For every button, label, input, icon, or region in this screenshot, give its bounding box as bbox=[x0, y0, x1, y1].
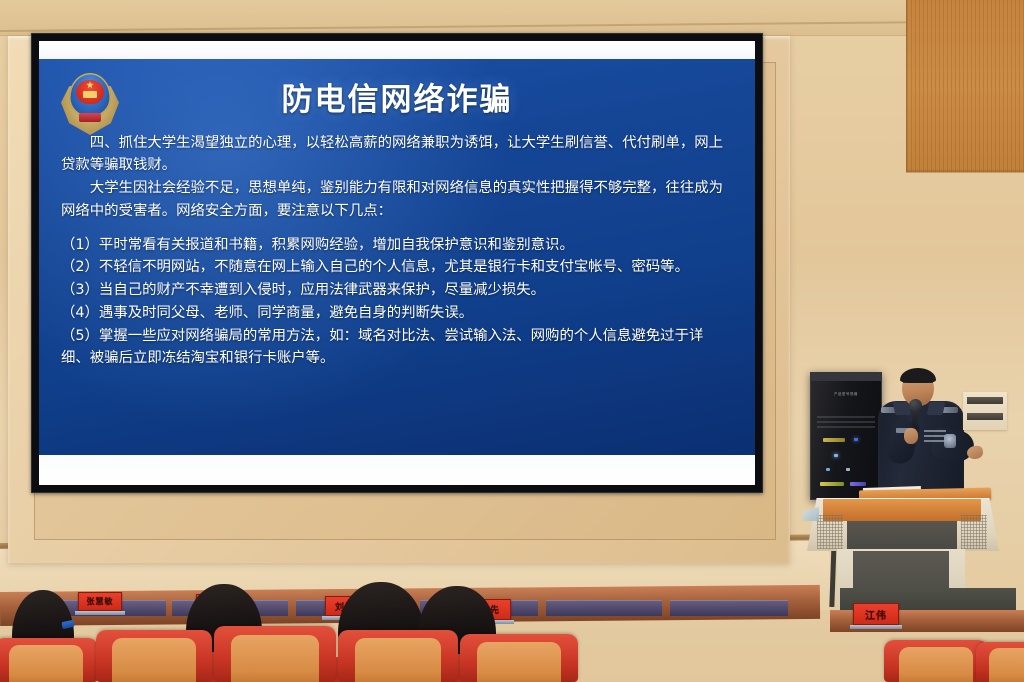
chinese-police-emblem-icon bbox=[61, 69, 119, 137]
slide-title: 防电信网络诈骗 bbox=[53, 65, 741, 119]
rack-status-bar bbox=[823, 438, 845, 442]
speaker-collar-right bbox=[927, 402, 946, 415]
audience-namecard: 张慧敏 bbox=[78, 592, 122, 611]
auditorium-seat[interactable] bbox=[0, 638, 98, 682]
speaker-figure bbox=[872, 368, 984, 500]
seat-cushion bbox=[355, 638, 441, 682]
podium-speaker-grille-right bbox=[961, 515, 987, 549]
seat-cushion bbox=[899, 647, 974, 682]
presentation-slide: 防电信网络诈骗 四、抓住大学生渴望独立的心理，以轻松高薪的网络兼职为诱饵，让大学… bbox=[39, 59, 755, 455]
speaker-right-hand bbox=[966, 445, 984, 461]
audience-namecard: 江伟 bbox=[853, 603, 899, 625]
rack-led-indicator bbox=[846, 468, 850, 471]
auditorium-seat[interactable] bbox=[976, 642, 1024, 682]
auditorium-seat[interactable] bbox=[96, 630, 212, 682]
rack-status-bar bbox=[820, 482, 844, 486]
podium-front-panel bbox=[847, 521, 957, 551]
wood-wall-panel-edge bbox=[906, 170, 1024, 173]
namecard-stand bbox=[75, 611, 125, 615]
slide-item-3: （3）当自己的财产不幸遭到入侵时，应用法律武器来保护，尽量减少损失。 bbox=[61, 279, 731, 302]
slide-item-4: （4）遇事及时同父母、老师、同学商量，避免自身的判断失误。 bbox=[61, 302, 731, 325]
rack-led-indicator bbox=[834, 454, 838, 457]
slide-paragraph-1: 四、抓住大学生渴望独立的心理，以轻松高薪的网络兼职为诱饵，让大学生刷信誉、代付刷… bbox=[61, 132, 731, 178]
desk-glass-panel bbox=[670, 600, 788, 616]
slide-item-1: （1）平时常看有关报道和书籍，积累网购经验，增加自我保护意识和鉴别意识。 bbox=[61, 234, 731, 257]
auditorium-seat[interactable] bbox=[460, 634, 578, 682]
rack-label: 产品型号规格 bbox=[834, 391, 858, 396]
screen-top-white-band bbox=[39, 41, 755, 59]
speaker-sleeve-badge bbox=[944, 434, 956, 448]
wood-wall-panel bbox=[906, 0, 1024, 172]
slide-item-2: （2）不轻信不明网站，不随意在网上输入自己的个人信息，尤其是银行卡和支付宝帐号、… bbox=[61, 256, 731, 279]
desk-glass-panel bbox=[546, 600, 662, 616]
auditorium-seat[interactable] bbox=[884, 640, 988, 682]
speaker-chest-insignia bbox=[924, 430, 946, 442]
screen-bottom-white-band bbox=[39, 455, 755, 485]
slide-paragraph-2: 大学生因社会经验不足，思想单纯，鉴别能力有限和对网络信息的真实性把握得不够完整，… bbox=[61, 177, 731, 223]
seat-cushion bbox=[231, 635, 319, 682]
lecture-hall-scene: 防电信网络诈骗 四、抓住大学生渴望独立的心理，以轻松高薪的网络兼职为诱饵，让大学… bbox=[0, 0, 1024, 682]
speaker-left-hand bbox=[904, 428, 918, 444]
wall-mounted-vent-plate bbox=[963, 392, 1007, 430]
speaker-glasses-icon bbox=[903, 382, 933, 387]
auditorium-seat[interactable] bbox=[214, 626, 336, 682]
rack-led-indicator bbox=[826, 468, 830, 471]
seat-cushion bbox=[9, 645, 84, 682]
speaker-hair bbox=[900, 368, 936, 383]
rack-led-indicator bbox=[854, 438, 858, 441]
auditorium-seat[interactable] bbox=[338, 630, 458, 682]
podium-accent-band bbox=[823, 499, 981, 521]
projection-screen[interactable]: 防电信网络诈骗 四、抓住大学生渴望独立的心理，以轻松高薪的网络兼职为诱饵，让大学… bbox=[39, 41, 755, 485]
seat-cushion bbox=[477, 642, 562, 682]
podium-speaker-grille-left bbox=[817, 515, 843, 549]
slide-item-5: （5）掌握一些应对网络骗局的常用方法，如：域名对比法、尝试输入法、网购的个人信息… bbox=[61, 325, 731, 371]
slide-body: 四、抓住大学生渴望独立的心理，以轻松高薪的网络兼职为诱饵，让大学生刷信誉、代付刷… bbox=[53, 119, 741, 371]
podium-corner-bracket bbox=[803, 507, 819, 521]
seat-cushion bbox=[989, 648, 1024, 682]
microphone-head-icon[interactable] bbox=[909, 399, 922, 412]
rack-status-bar bbox=[850, 482, 866, 486]
wall-upper-band bbox=[0, 0, 1024, 36]
namecard-stand bbox=[850, 625, 902, 629]
seat-cushion bbox=[112, 638, 196, 682]
